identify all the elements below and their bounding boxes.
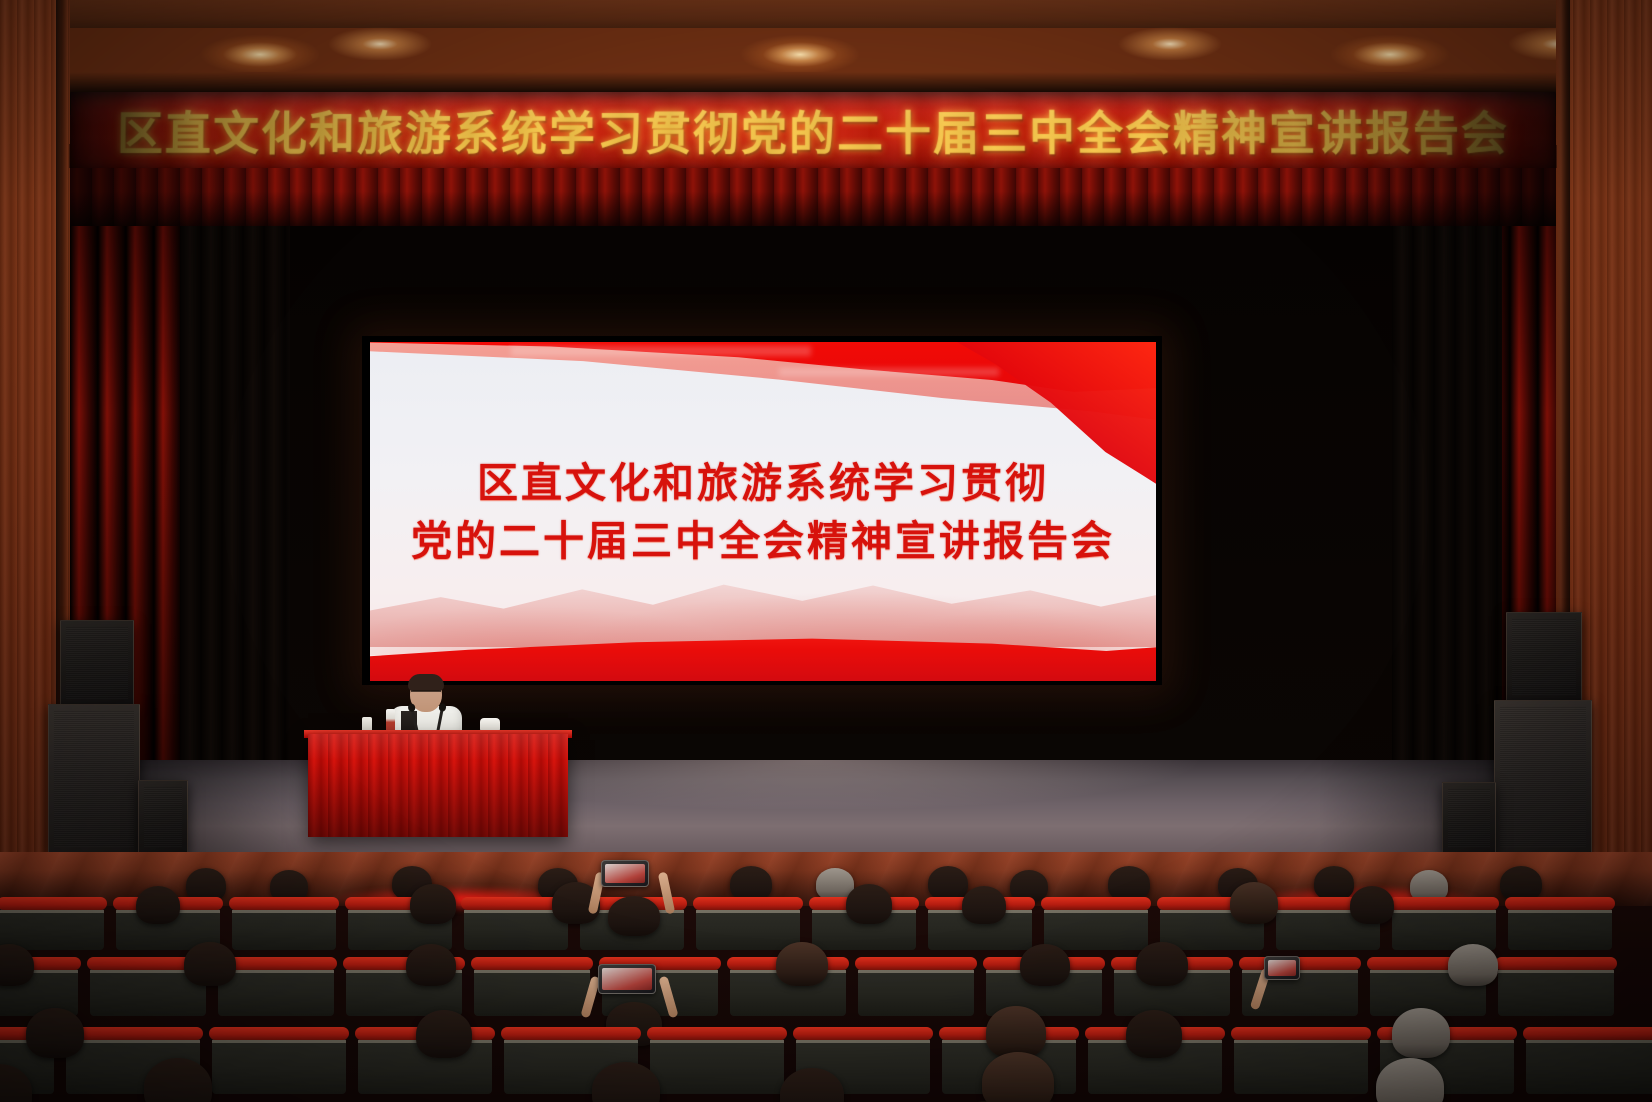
audience-head [986,1006,1046,1058]
photographer-head [608,896,660,936]
audience-head [1392,1008,1450,1058]
loudspeaker-stack-right [1436,612,1596,852]
presenter-table-group [308,672,568,837]
audience-area [0,852,1652,1102]
phone-screen [605,864,645,883]
smartphone-icon [601,860,649,887]
audience-head [846,884,892,924]
ceiling [0,0,1652,30]
ribbon-fold [779,368,999,376]
theater-seat[interactable] [1392,904,1496,950]
loudspeaker-top [60,620,134,706]
theater-seat[interactable] [1498,964,1614,1016]
theater-seat[interactable] [212,1034,346,1094]
loudspeaker-monitor [138,780,188,854]
audience-head [730,866,772,901]
speaker-grill [1500,707,1586,847]
audience-head [144,1058,212,1102]
smartphone-icon [598,964,656,994]
led-title-line-1: 区直文化和旅游系统学习贯彻 [370,454,1156,512]
stage-valance [70,168,1556,226]
audience-head [1314,866,1354,900]
speaker-grill [1512,619,1576,695]
loudspeaker-sub [1494,700,1592,854]
audience-head [26,1008,84,1058]
stage-black-leg-left [180,226,290,850]
theater-seat[interactable] [474,964,590,1016]
theater-seat[interactable] [858,964,974,1016]
audience-head [1350,886,1394,924]
glasses-icon [411,690,441,699]
theater-seat[interactable] [1044,904,1148,950]
speaker-grill [54,711,134,847]
theater-seat[interactable] [1234,1034,1368,1094]
audience-head [184,942,236,986]
theater-seat[interactable] [0,904,104,950]
audience-head [410,884,456,924]
speaker-grill [66,627,128,699]
speaker-grill [144,787,182,847]
phone-screen [1268,960,1296,976]
event-banner: 区直文化和旅游系统学习贯彻党的二十届三中全会精神宣讲报告会 [69,92,1556,168]
theater-seat[interactable] [650,1034,784,1094]
loudspeaker-top [1506,612,1582,702]
led-screen: 区直文化和旅游系统学习贯彻 党的二十届三中全会精神宣讲报告会 [370,342,1156,681]
audience-head [776,942,828,986]
theater-seat[interactable] [1526,1034,1652,1094]
audience-head [1020,944,1070,986]
conference-hall-photo: 区直文化和旅游系统学习贯彻党的二十届三中全会精神宣讲报告会 区直文化和旅游系统学… [0,0,1652,1102]
audience-head [416,1010,472,1058]
audience-head [1126,1010,1182,1058]
smartphone-icon [1264,956,1300,980]
presenter-table [308,734,568,837]
loudspeaker-stack-left [40,620,190,852]
ribbon-fold [511,346,811,356]
theater-seat[interactable] [696,904,800,950]
speaker-hair [408,674,444,691]
audience-head [1230,882,1278,924]
speaker-grill [1448,789,1490,847]
audience-head [1500,866,1542,901]
audience-head [406,944,456,986]
led-screen-title: 区直文化和旅游系统学习贯彻 党的二十届三中全会精神宣讲报告会 [370,454,1156,570]
loudspeaker-monitor [1442,782,1496,854]
led-screen-frame: 区直文化和旅游系统学习贯彻 党的二十届三中全会精神宣讲报告会 [362,336,1162,685]
audience-head [1448,944,1498,986]
event-banner-text: 区直文化和旅游系统学习贯彻党的二十届三中全会精神宣讲报告会 [69,92,1556,168]
phone-screen [602,968,652,990]
audience-head [0,944,34,986]
audience-head [928,866,968,900]
audience-head [1136,942,1188,986]
theater-seat[interactable] [232,904,336,950]
led-title-line-2: 党的二十届三中全会精神宣讲报告会 [370,512,1156,570]
audience-head [1108,866,1150,901]
stage-floor [70,760,1556,852]
loudspeaker-sub [48,704,140,854]
proscenium-beam [0,28,1652,94]
theater-seat[interactable] [1508,904,1612,950]
audience-head [136,886,180,924]
audience-head [962,886,1006,924]
